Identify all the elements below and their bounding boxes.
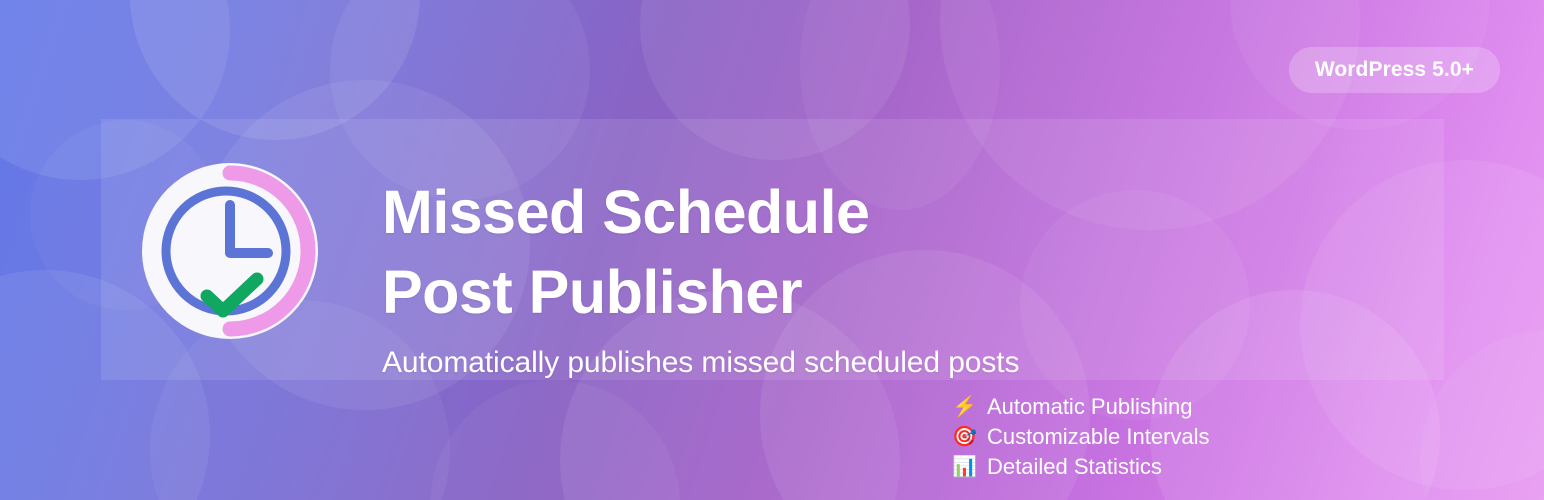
page-title-line-1: Missed Schedule <box>382 173 1432 253</box>
feature-list: ⚡ Automatic Publishing 🎯 Customizable In… <box>952 396 1210 478</box>
feature-label: Customizable Intervals <box>987 426 1210 448</box>
plugin-banner: WordPress 5.0+ Missed Schedule Post Publ… <box>0 0 1544 500</box>
version-badge: WordPress 5.0+ <box>1289 47 1500 93</box>
hero-text-block: Missed Schedule Post Publisher Automatic… <box>382 173 1432 381</box>
target-dart-icon: 🎯 <box>952 427 976 447</box>
page-title-line-2: Post Publisher <box>382 253 1432 333</box>
clock-check-logo <box>140 161 320 341</box>
page-title: Missed Schedule Post Publisher <box>382 173 1432 333</box>
decorative-circle <box>430 380 680 500</box>
lightning-bolt-icon: ⚡ <box>952 397 976 417</box>
bar-chart-icon: 📊 <box>952 457 976 477</box>
feature-item-customizable-intervals: 🎯 Customizable Intervals <box>952 426 1210 448</box>
feature-item-automatic-publishing: ⚡ Automatic Publishing <box>952 396 1210 418</box>
feature-label: Automatic Publishing <box>987 396 1192 418</box>
feature-label: Detailed Statistics <box>987 456 1162 478</box>
page-subtitle: Automatically publishes missed scheduled… <box>382 345 1432 381</box>
feature-item-detailed-statistics: 📊 Detailed Statistics <box>952 456 1210 478</box>
